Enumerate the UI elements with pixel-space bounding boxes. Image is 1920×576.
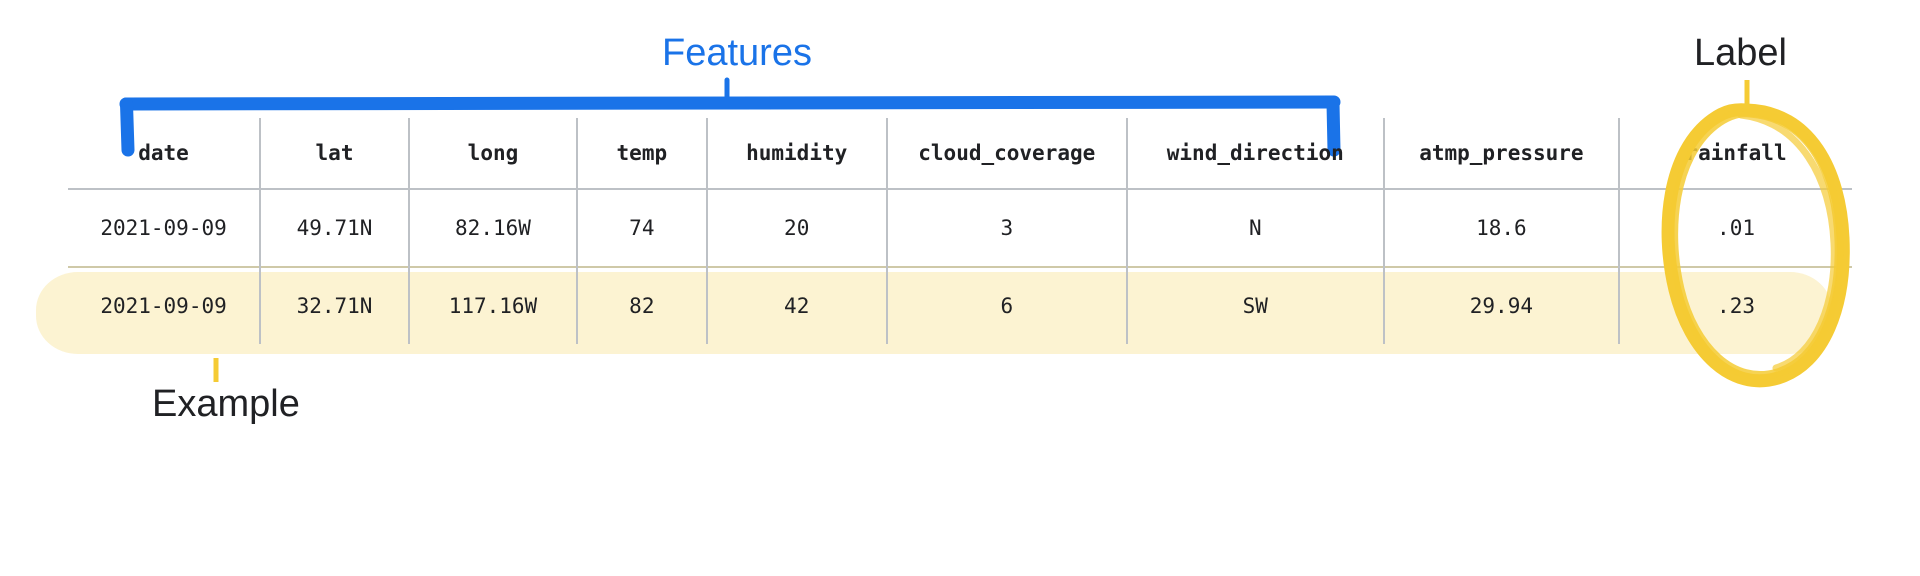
column-header-rainfall: rainfall [1619, 118, 1852, 189]
column-header-cloud-coverage: cloud_coverage [887, 118, 1127, 189]
cell-wind-direction: N [1127, 189, 1384, 267]
features-annotation-label: Features [662, 32, 812, 75]
cell-cloud-coverage: 6 [887, 267, 1127, 344]
cell-humidity: 42 [707, 267, 887, 344]
cell-lat: 32.71N [260, 267, 409, 344]
cell-wind-direction: SW [1127, 267, 1384, 344]
cell-lat: 49.71N [260, 189, 409, 267]
example-annotation-label: Example [152, 383, 300, 426]
column-header-long: long [409, 118, 577, 189]
cell-date: 2021-09-09 [68, 267, 260, 344]
table-header-row: date lat long temp humidity cloud_covera… [68, 118, 1852, 189]
cell-date: 2021-09-09 [68, 189, 260, 267]
cell-temp: 82 [577, 267, 707, 344]
column-header-date: date [68, 118, 260, 189]
column-header-humidity: humidity [707, 118, 887, 189]
cell-temp: 74 [577, 189, 707, 267]
cell-humidity: 20 [707, 189, 887, 267]
cell-cloud-coverage: 3 [887, 189, 1127, 267]
dataset-table: date lat long temp humidity cloud_covera… [68, 118, 1852, 354]
cell-rainfall: .01 [1619, 189, 1852, 267]
cell-long: 82.16W [409, 189, 577, 267]
cell-atmp-pressure: 18.6 [1384, 189, 1619, 267]
table-row-highlighted: 2021-09-09 32.71N 117.16W 82 42 6 SW 29.… [68, 267, 1852, 344]
table-row: 2021-09-09 49.71N 82.16W 74 20 3 N 18.6 … [68, 189, 1852, 267]
column-header-wind-direction: wind_direction [1127, 118, 1384, 189]
diagram-canvas: date lat long temp humidity cloud_covera… [0, 0, 1920, 576]
label-annotation-label: Label [1694, 32, 1787, 75]
cell-rainfall: .23 [1619, 267, 1852, 344]
cell-atmp-pressure: 29.94 [1384, 267, 1619, 344]
cell-long: 117.16W [409, 267, 577, 344]
column-header-lat: lat [260, 118, 409, 189]
column-header-temp: temp [577, 118, 707, 189]
column-header-atmp-pressure: atmp_pressure [1384, 118, 1619, 189]
